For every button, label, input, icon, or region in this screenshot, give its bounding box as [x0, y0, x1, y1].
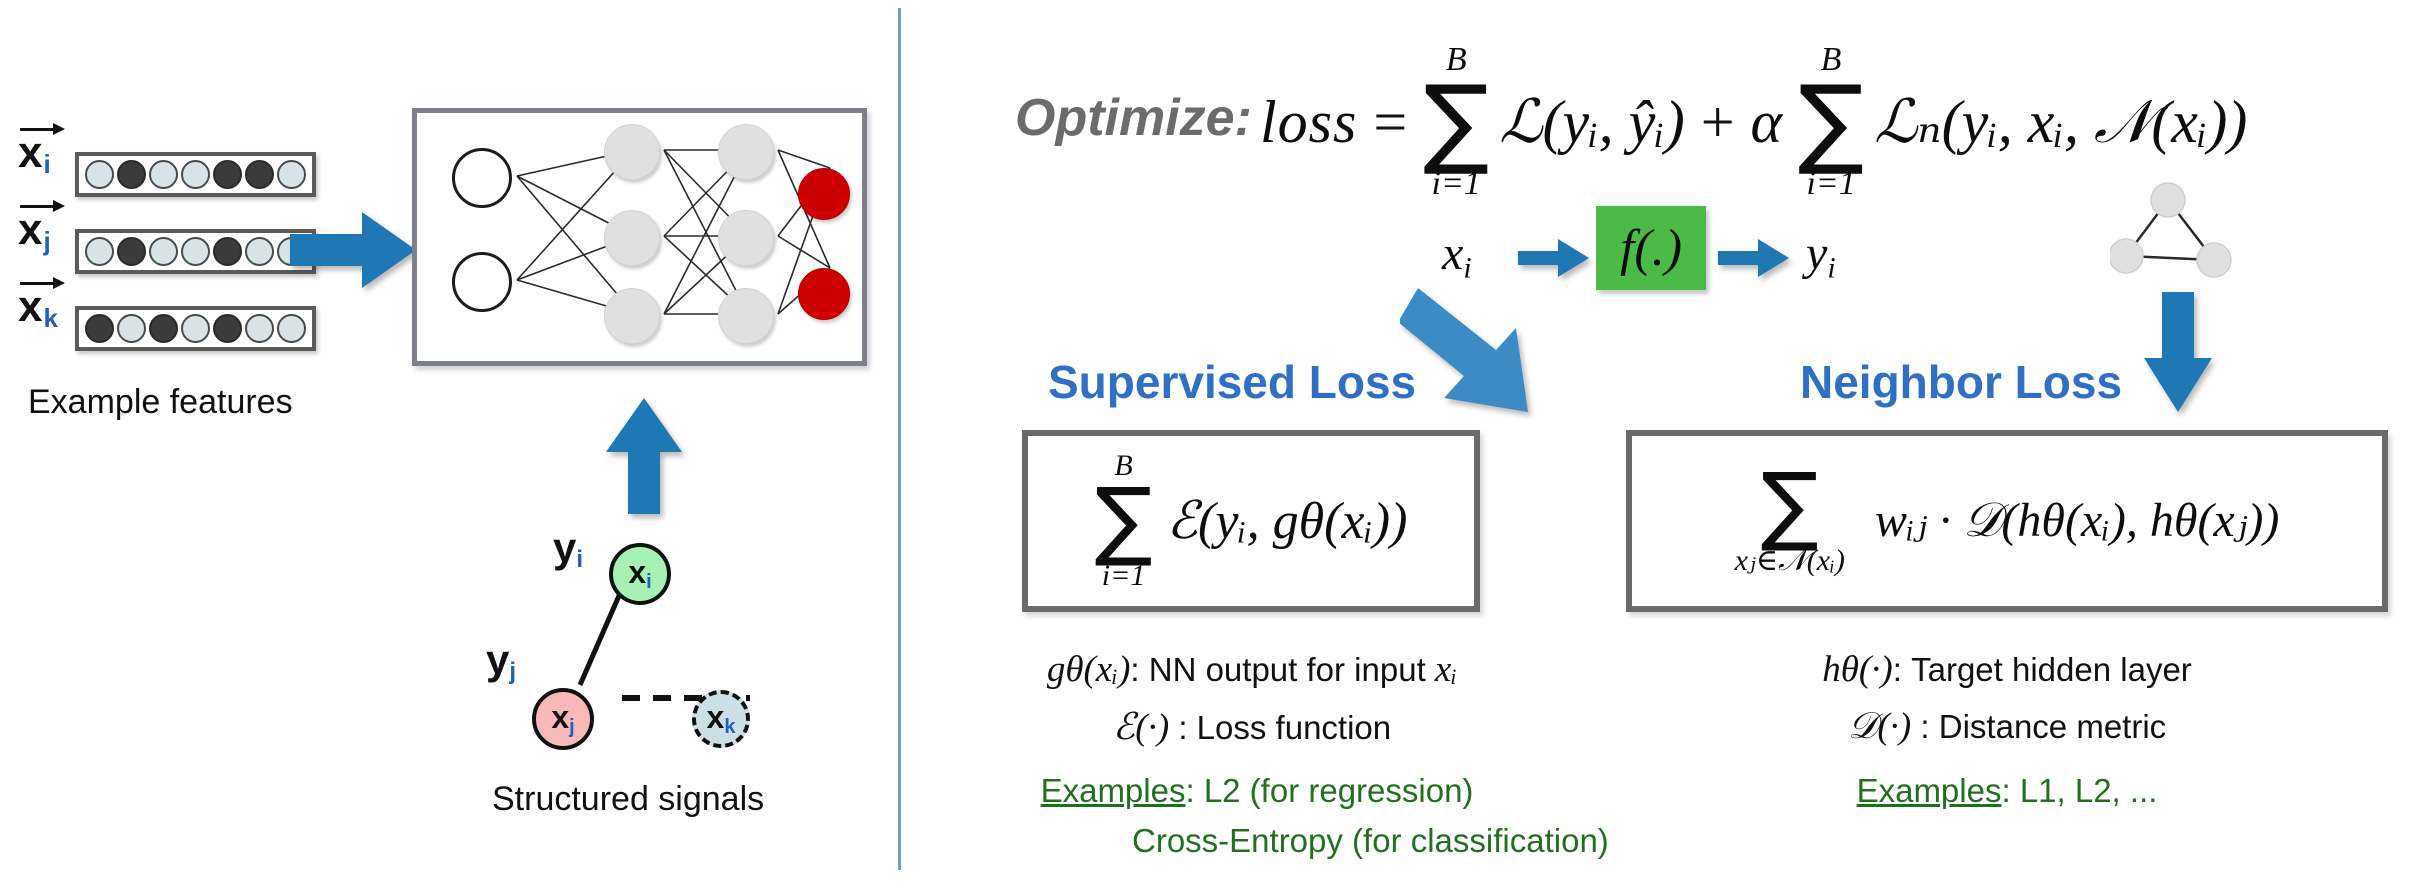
- feature-vector-label-i: xi: [18, 125, 66, 180]
- sum2-lower-limit: i=1: [1806, 167, 1855, 201]
- neighbor-legend-1-symbol: hθ(·): [1822, 649, 1893, 690]
- feature-cell-k-4: [213, 314, 242, 343]
- arrow-right-icon-pipeline-in: [1518, 238, 1590, 278]
- supervised-legend-line-2: ℰ(·) : Loss function: [1022, 705, 1482, 749]
- neighbor-legend-2-text: Distance metric: [1939, 708, 2166, 745]
- function-box-label: f(.): [1620, 219, 1682, 278]
- graph-node-xj-sub: j: [569, 716, 575, 738]
- neighbor-legend-line-2: 𝒟(·) : Distance metric: [1626, 705, 2388, 748]
- feature-cell-i-6: [277, 160, 306, 189]
- feature-cell-i-1: [117, 160, 146, 189]
- vector-arrow-icon: [20, 279, 66, 288]
- feature-cell-j-4: [213, 237, 242, 266]
- feature-cell-i-3: [181, 160, 210, 189]
- network-hidden-node-3: [604, 288, 660, 344]
- vec-label-letter-k: x: [18, 282, 42, 331]
- example-features-caption: Example features: [28, 383, 293, 422]
- panel-divider: [898, 8, 901, 870]
- supervised-loss-title: Supervised Loss: [1048, 355, 1416, 409]
- vector-arrow-icon: [20, 202, 66, 211]
- graph-label-yj-letter: y: [486, 636, 509, 683]
- pipeline-output-letter: y: [1806, 227, 1827, 280]
- feature-cell-k-5: [245, 314, 274, 343]
- slide-canvas: xi xj xk Example features: [0, 0, 2412, 890]
- main-equation-plus: +: [1701, 92, 1735, 152]
- neighbor-loss-title: Neighbor Loss: [1800, 355, 2122, 409]
- neighbor-legend-2-symbol: 𝒟(·): [1848, 706, 1911, 747]
- pipeline-input-letter: x: [1442, 227, 1463, 280]
- supervised-formula-body: ℰ(yᵢ, gθ(xᵢ)): [1167, 491, 1408, 551]
- neighbor-legend-line-1: hθ(·): Target hidden layer: [1626, 648, 2388, 691]
- feature-cell-j-0: [85, 237, 114, 266]
- arrow-right-icon-to-network: [290, 208, 418, 292]
- neighbor-legend-2-sep: :: [1911, 708, 1939, 745]
- neighbor-sum: ∑ xⱼ∈𝒩(xᵢ): [1735, 466, 1845, 575]
- network-hidden-node-4: [718, 124, 774, 180]
- main-equation-term-1: ℒ(yᵢ, ŷᵢ): [1499, 92, 1684, 152]
- supervised-examples-label: Examples: [1041, 772, 1186, 809]
- neighbor-legend-1-sep: :: [1893, 651, 1911, 688]
- graph-node-xj: xj: [532, 688, 594, 750]
- vec-label-sub-i: i: [43, 149, 50, 179]
- feature-cell-k-0: [85, 314, 114, 343]
- neighbor-formula-body: wᵢⱼ · 𝒟(hθ(xᵢ), hθ(xⱼ)): [1875, 492, 2280, 549]
- graph-label-yi-letter: y: [553, 524, 576, 571]
- supervised-sum-glyph: ∑: [1095, 481, 1153, 560]
- feature-cell-j-3: [181, 237, 210, 266]
- main-equation-alpha: α: [1751, 92, 1783, 152]
- feature-vector-row-i: [75, 152, 316, 197]
- pipeline-input-sub: i: [1463, 251, 1471, 284]
- supervised-legend-2-symbol: ℰ(·): [1113, 707, 1169, 748]
- feature-cell-k-2: [149, 314, 178, 343]
- feature-vector-label-k: xk: [18, 279, 66, 334]
- network-hidden-node-1: [604, 124, 660, 180]
- supervised-examples-line-2: Cross-Entropy (for classification): [1132, 822, 1609, 860]
- network-input-node-2: [452, 252, 512, 312]
- graph-node-xj-label: x: [551, 699, 569, 735]
- supervised-legend-1-tail: xᵢ: [1435, 649, 1457, 690]
- feature-cell-k-6: [277, 314, 306, 343]
- supervised-legend-2-sep: :: [1169, 709, 1197, 746]
- arrow-down-icon-neighbor: [2144, 292, 2214, 414]
- function-box: f(.): [1596, 206, 1706, 290]
- neighbor-legend-1-text: Target hidden layer: [1911, 651, 2192, 688]
- feature-cell-k-1: [117, 314, 146, 343]
- feature-cell-i-5: [245, 160, 274, 189]
- graph-node-xk-sub: k: [724, 716, 735, 738]
- neighbor-loss-formula-box: ∑ xⱼ∈𝒩(xᵢ) wᵢⱼ · 𝒟(hθ(xᵢ), hθ(xⱼ)): [1626, 430, 2388, 612]
- graph-node-xk-label: x: [707, 699, 725, 735]
- neighbor-example-1: L1, L2, ...: [2020, 772, 2158, 809]
- network-output-node-2: [798, 268, 850, 320]
- graph-label-yi: yi: [553, 524, 583, 574]
- sum1-glyph: ∑: [1423, 77, 1489, 167]
- arrow-diagonal-icon-supervised: [1400, 288, 1560, 418]
- graph-node-xi-sub: i: [646, 571, 652, 593]
- neighborhood-triangle-graph: [2110, 180, 2238, 290]
- neighbor-sum-lower: xⱼ∈𝒩(xᵢ): [1735, 546, 1845, 576]
- supervised-sum: B ∑ i=1: [1095, 451, 1153, 590]
- feature-vector-row-j: [75, 229, 316, 274]
- arrow-up-icon-to-network: [602, 398, 686, 516]
- supervised-loss-formula-box: B ∑ i=1 ℰ(yᵢ, gθ(xᵢ)): [1022, 430, 1480, 612]
- neighbor-sum-glyph: ∑: [1761, 466, 1819, 545]
- supervised-legend-1-text: NN output for input: [1149, 651, 1435, 688]
- structured-signals-caption: Structured signals: [492, 780, 764, 819]
- graph-label-yj-sub: j: [509, 658, 516, 685]
- vec-label-letter-j: x: [18, 205, 42, 254]
- main-equation-term-2: ℒₙ(yᵢ, xᵢ, 𝒩(xᵢ)): [1874, 92, 2247, 152]
- vector-arrow-icon: [20, 125, 66, 134]
- sum1-lower-limit: i=1: [1432, 167, 1481, 201]
- feature-cell-j-1: [117, 237, 146, 266]
- feature-cell-i-2: [149, 160, 178, 189]
- pipeline-output-label: yi: [1806, 226, 1836, 285]
- feature-cell-i-4: [213, 160, 242, 189]
- feature-vector-label-j: xj: [18, 202, 66, 257]
- main-equation: loss = B ∑ i=1 ℒ(yᵢ, ŷᵢ) + α B ∑ i=1 ℒₙ(…: [1260, 52, 2247, 192]
- graph-node-xk: xk: [692, 690, 750, 748]
- feature-cell-j-5: [245, 237, 274, 266]
- graph-node-xi-label: x: [628, 554, 646, 590]
- sum2-glyph: ∑: [1798, 77, 1864, 167]
- optimize-label: Optimize:: [1015, 88, 1252, 148]
- network-hidden-node-6: [718, 288, 774, 344]
- feature-vector-row-k: [75, 306, 316, 351]
- pipeline-output-sub: i: [1827, 251, 1835, 284]
- supervised-example-1: L2 (for regression): [1204, 772, 1474, 809]
- supervised-legend-1-sep: :: [1130, 651, 1148, 688]
- main-equation-sum-2: B ∑ i=1: [1798, 43, 1864, 201]
- feature-cell-j-2: [149, 237, 178, 266]
- graph-label-yi-sub: i: [576, 546, 583, 573]
- vec-label-sub-k: k: [43, 303, 57, 333]
- arrow-right-icon-pipeline-out: [1718, 238, 1790, 278]
- vec-label-letter-i: x: [18, 128, 42, 177]
- graph-node-xi: xi: [609, 543, 671, 605]
- supervised-legend-1-symbol: gθ(xᵢ): [1047, 649, 1131, 690]
- feature-cell-k-3: [181, 314, 210, 343]
- main-equation-equals: =: [1373, 92, 1407, 152]
- neighbor-examples-line-1: Examples: L1, L2, ...: [1626, 772, 2388, 810]
- neighbor-examples-label: Examples: [1857, 772, 2002, 809]
- graph-label-yj: yj: [486, 636, 516, 686]
- vec-label-sub-j: j: [43, 226, 50, 256]
- main-equation-sum-1: B ∑ i=1: [1423, 43, 1489, 201]
- network-hidden-node-2: [604, 210, 660, 266]
- network-output-node-1: [798, 168, 850, 220]
- supervised-sum-lower: i=1: [1102, 561, 1146, 591]
- network-input-node-1: [452, 148, 512, 208]
- pipeline-input-label: xi: [1442, 226, 1472, 285]
- network-hidden-node-5: [718, 210, 774, 266]
- supervised-examples-line-1: Examples: L2 (for regression): [1022, 772, 1492, 810]
- feature-cell-i-0: [85, 160, 114, 189]
- supervised-legend-2-text: Loss function: [1197, 709, 1391, 746]
- main-equation-lhs: loss: [1260, 92, 1357, 152]
- supervised-legend-line-1: gθ(xᵢ): NN output for input xᵢ: [1022, 648, 1482, 691]
